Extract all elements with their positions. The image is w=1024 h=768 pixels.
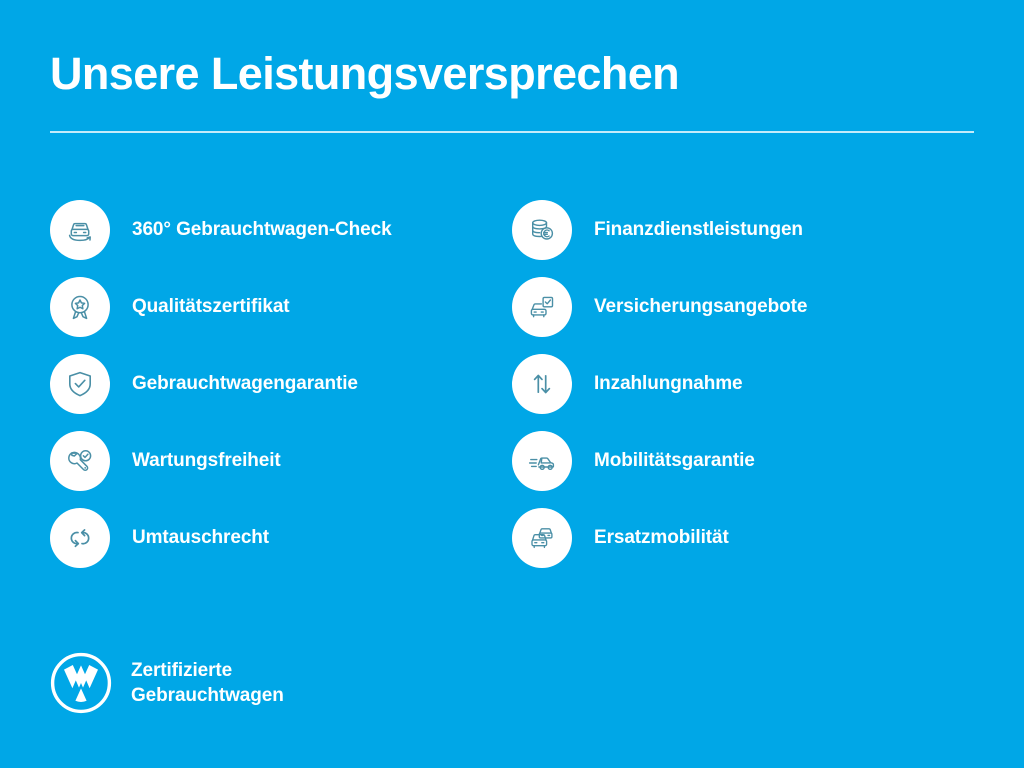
benefit-item-inzahlungnahme[interactable]: Inzahlungnahme bbox=[512, 354, 974, 414]
wrench-check-icon bbox=[50, 431, 110, 491]
benefits-grid: 360° Gebrauchtwagen-Check Qualitätszerti… bbox=[50, 200, 974, 568]
up-down-arrows-icon bbox=[512, 354, 572, 414]
car-document-check-icon bbox=[512, 277, 572, 337]
award-rosette-icon bbox=[50, 277, 110, 337]
benefit-item-gebrauchtwagen-check[interactable]: 360° Gebrauchtwagen-Check bbox=[50, 200, 512, 260]
brand-line-1: Zertifizierte bbox=[131, 658, 284, 683]
benefit-item-finanzdienstleistungen[interactable]: Finanzdienstleistungen bbox=[512, 200, 974, 260]
benefits-column-right: Finanzdienstleistungen Versicherungsange… bbox=[512, 200, 974, 568]
title-divider bbox=[50, 131, 974, 133]
brand-text: Zertifizierte Gebrauchtwagen bbox=[131, 658, 284, 708]
car-360-check-icon bbox=[50, 200, 110, 260]
benefit-label: Wartungsfreiheit bbox=[132, 450, 281, 472]
benefit-item-umtauschrecht[interactable]: Umtauschrecht bbox=[50, 508, 512, 568]
benefit-label: Ersatzmobilität bbox=[594, 527, 729, 549]
benefit-label: Mobilitätsgarantie bbox=[594, 450, 755, 472]
benefit-item-mobilitaetsgarantie[interactable]: Mobilitätsgarantie bbox=[512, 431, 974, 491]
coins-euro-icon bbox=[512, 200, 572, 260]
shield-check-icon bbox=[50, 354, 110, 414]
benefit-label: 360° Gebrauchtwagen-Check bbox=[132, 219, 392, 241]
benefit-item-gebrauchtwagengarantie[interactable]: Gebrauchtwagengarantie bbox=[50, 354, 512, 414]
page-title: Unsere Leistungsversprechen bbox=[50, 46, 974, 102]
benefit-item-wartungsfreiheit[interactable]: Wartungsfreiheit bbox=[50, 431, 512, 491]
brand-line-2: Gebrauchtwagen bbox=[131, 683, 284, 708]
benefit-item-qualitaetszertifikat[interactable]: Qualitätszertifikat bbox=[50, 277, 512, 337]
benefit-label: Versicherungsangebote bbox=[594, 296, 807, 318]
volkswagen-logo-icon bbox=[50, 652, 112, 714]
benefit-label: Umtauschrecht bbox=[132, 527, 269, 549]
brand-lockup: Zertifizierte Gebrauchtwagen bbox=[50, 652, 284, 714]
header: Unsere Leistungsversprechen bbox=[50, 46, 974, 133]
benefit-item-versicherungsangebote[interactable]: Versicherungsangebote bbox=[512, 277, 974, 337]
benefit-label: Qualitätszertifikat bbox=[132, 296, 290, 318]
exchange-arrows-icon bbox=[50, 508, 110, 568]
benefit-label: Gebrauchtwagengarantie bbox=[132, 373, 358, 395]
benefit-item-ersatzmobilitaet[interactable]: Ersatzmobilität bbox=[512, 508, 974, 568]
benefit-label: Finanzdienstleistungen bbox=[594, 219, 803, 241]
promo-page: Unsere Leistungsversprechen 360° Gebrauc bbox=[0, 0, 1024, 768]
benefit-label: Inzahlungnahme bbox=[594, 373, 743, 395]
benefits-column-left: 360° Gebrauchtwagen-Check Qualitätszerti… bbox=[50, 200, 512, 568]
car-speed-icon bbox=[512, 431, 572, 491]
two-cars-icon bbox=[512, 508, 572, 568]
